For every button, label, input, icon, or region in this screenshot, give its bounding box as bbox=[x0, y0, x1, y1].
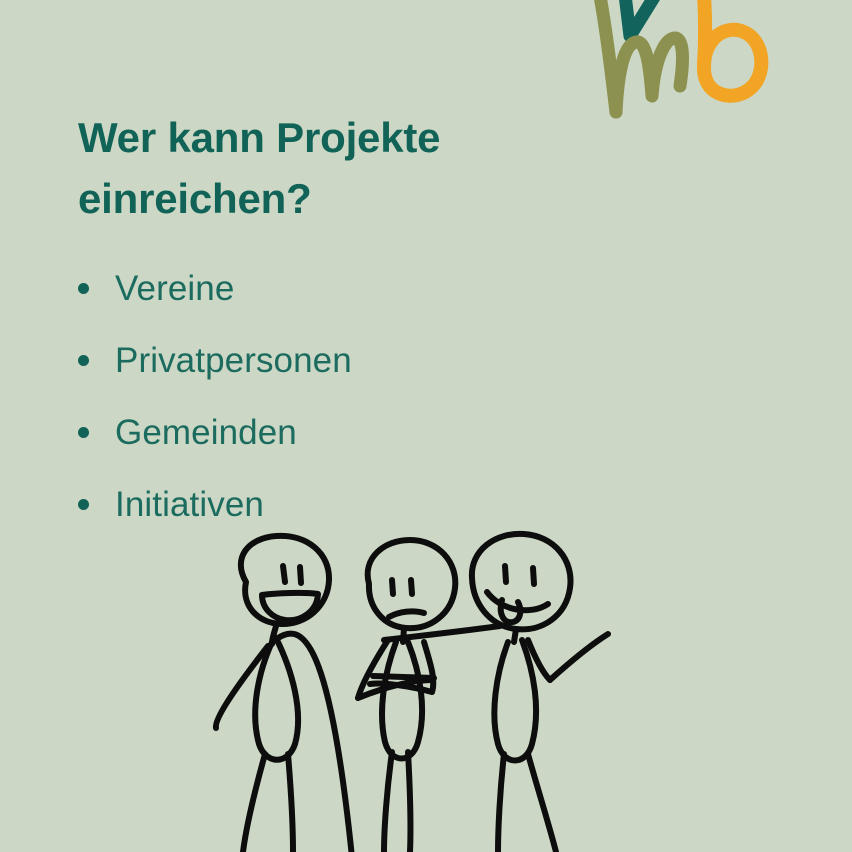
left-figure-eye-left-icon bbox=[283, 566, 285, 582]
list-item: Gemeinden bbox=[78, 396, 678, 468]
middle-figure-mouth-icon bbox=[389, 611, 424, 617]
stick-figure-right bbox=[472, 534, 608, 852]
middle-figure-eye-right-icon bbox=[411, 580, 412, 594]
right-figure-mouth-icon bbox=[487, 592, 548, 610]
logo-letter-w-icon bbox=[600, 0, 682, 112]
list-item-label: Gemeinden bbox=[115, 415, 297, 450]
list-item: Vereine bbox=[78, 252, 678, 324]
list-item-label: Initiativen bbox=[115, 487, 264, 522]
stick-figure-middle bbox=[358, 540, 500, 852]
right-figure-eye-left-icon bbox=[505, 566, 506, 582]
middle-figure-eye-left-icon bbox=[392, 580, 393, 594]
left-figure-eye-right-icon bbox=[300, 567, 301, 583]
three-stick-figures-illustration bbox=[0, 522, 852, 852]
left-figure-mouth-icon bbox=[262, 593, 318, 620]
bullet-dot-icon bbox=[78, 427, 89, 438]
list-item: Privatpersonen bbox=[78, 324, 678, 396]
bullet-dot-icon bbox=[78, 283, 89, 294]
list-item: Initiativen bbox=[78, 468, 678, 540]
eligibility-list: Vereine Privatpersonen Gemeinden Initiat… bbox=[78, 252, 678, 540]
right-figure-eye-right-icon bbox=[533, 568, 534, 584]
bullet-dot-icon bbox=[78, 355, 89, 366]
wb-monogram-logo bbox=[592, 0, 792, 140]
stick-figure-left bbox=[216, 536, 369, 852]
list-item-label: Vereine bbox=[115, 271, 234, 306]
bullet-dot-icon bbox=[78, 499, 89, 510]
list-item-label: Privatpersonen bbox=[115, 343, 352, 378]
page-title: Wer kann Projekte einreichen? bbox=[78, 108, 598, 230]
logo-letter-b-icon bbox=[704, 0, 761, 96]
poster-canvas: Wer kann Projekte einreichen? Vereine Pr… bbox=[0, 0, 852, 852]
right-figure-tongue-icon bbox=[501, 600, 521, 622]
logo-flourish-icon bbox=[622, 0, 656, 36]
